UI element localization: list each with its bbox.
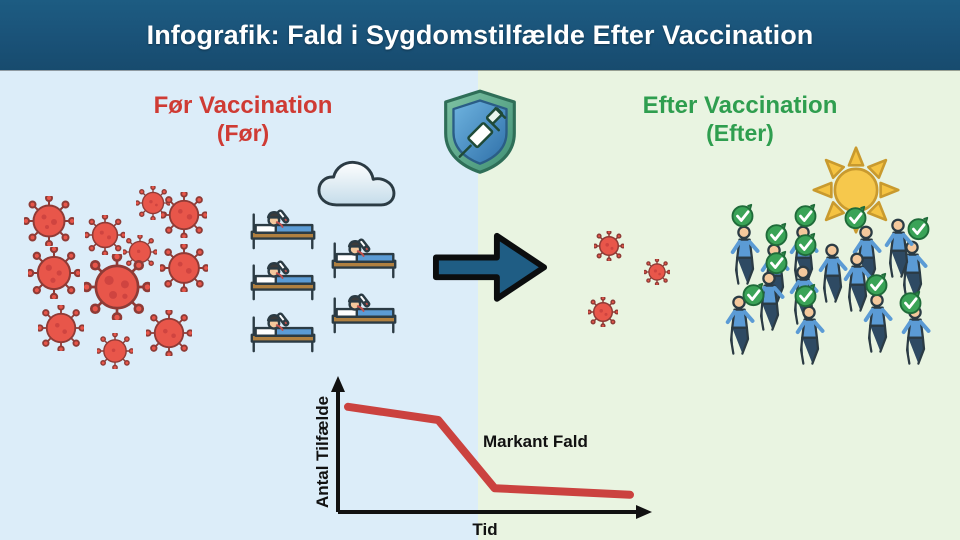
check-badge-icon xyxy=(764,222,789,247)
before-section-heading: Før Vaccination (Før) xyxy=(93,92,393,147)
check-badge-icon xyxy=(793,203,818,228)
hospital-bed-icon xyxy=(247,254,319,302)
after-heading-line1: Efter Vaccination xyxy=(570,92,910,120)
page-title: Infografik: Fald i Sygdomstilfælde Efter… xyxy=(147,20,814,51)
check-badge-icon xyxy=(898,290,923,315)
shield-syringe-icon xyxy=(441,88,519,176)
before-heading-line1: Før Vaccination xyxy=(93,92,393,120)
virus-icon xyxy=(84,254,150,320)
virus-icon xyxy=(161,192,207,238)
hospital-bed-icon xyxy=(328,232,400,280)
header-bar: Infografik: Fald i Sygdomstilfælde Efter… xyxy=(0,0,960,70)
before-heading-line2: (Før) xyxy=(93,120,393,147)
check-badge-icon xyxy=(741,282,766,307)
chart-y-axis-label: Antal Tilfælde xyxy=(313,396,332,508)
after-section-heading: Efter Vaccination (Efter) xyxy=(570,92,910,147)
virus-icon xyxy=(594,231,624,261)
check-badge-icon xyxy=(793,232,818,257)
hospital-bed-icon xyxy=(247,306,319,354)
chart-annotation: Markant Fald xyxy=(483,432,588,452)
virus-icon xyxy=(146,310,192,356)
virus-icon xyxy=(97,333,133,369)
check-badge-icon xyxy=(906,216,931,241)
decline-line-chart: Antal Tilfælde Tid xyxy=(300,370,670,540)
chart-y-axis xyxy=(331,376,345,512)
check-badge-icon xyxy=(793,283,818,308)
walking-person-icon xyxy=(792,305,826,367)
hospital-bed-icon xyxy=(328,287,400,335)
virus-icon xyxy=(160,244,208,292)
virus-icon xyxy=(24,196,74,246)
right-arrow-icon xyxy=(432,228,550,308)
cloud-icon xyxy=(316,158,404,210)
check-badge-icon xyxy=(843,205,868,230)
check-badge-icon xyxy=(864,272,889,297)
check-badge-icon xyxy=(764,250,789,275)
virus-icon xyxy=(644,259,670,285)
hospital-bed-icon xyxy=(247,203,319,251)
chart-x-axis-label: Tid xyxy=(472,520,497,539)
virus-icon xyxy=(85,215,125,255)
check-badge-icon xyxy=(730,203,755,228)
chart-x-axis xyxy=(338,505,652,519)
after-heading-line2: (Efter) xyxy=(570,120,910,147)
infographic-canvas: Infografik: Fald i Sygdomstilfælde Efter… xyxy=(0,0,960,540)
virus-icon xyxy=(38,305,84,351)
virus-icon xyxy=(28,247,80,299)
virus-icon xyxy=(588,297,618,327)
